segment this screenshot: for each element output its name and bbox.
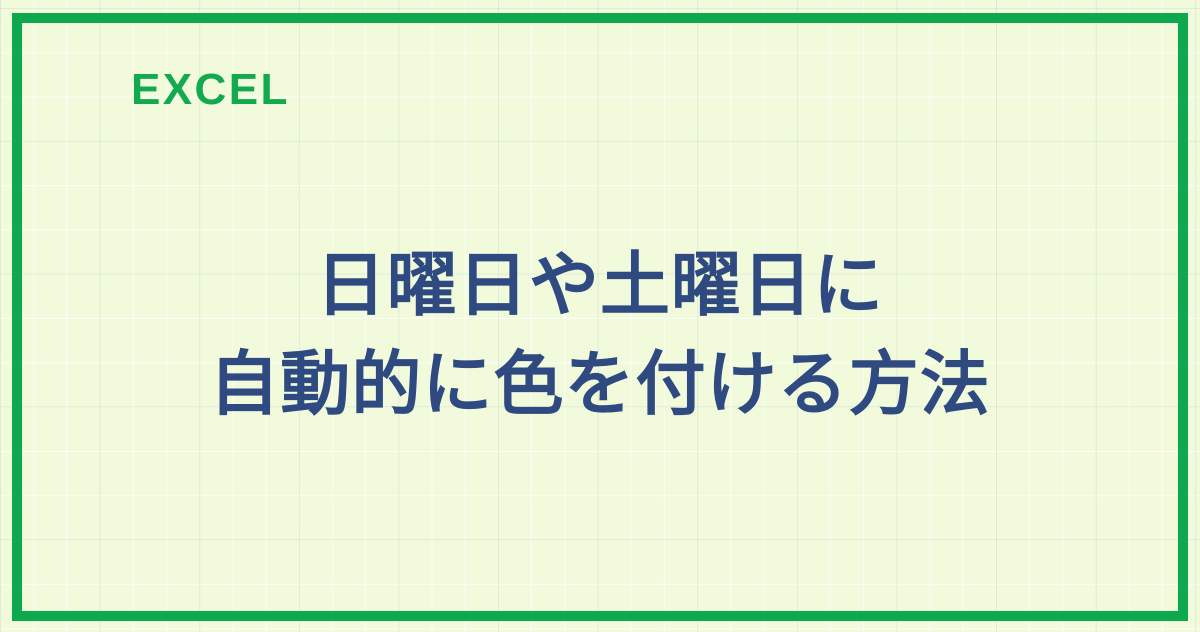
headline-line-1: 日曜日や土曜日に: [0, 236, 1200, 335]
headline: 日曜日や土曜日に 自動的に色を付ける方法: [0, 236, 1200, 433]
thumbnail-card: EXCEL 日曜日や土曜日に 自動的に色を付ける方法: [0, 0, 1200, 632]
headline-line-2: 自動的に色を付ける方法: [0, 335, 1200, 434]
category-kicker-excel: EXCEL: [131, 68, 290, 112]
